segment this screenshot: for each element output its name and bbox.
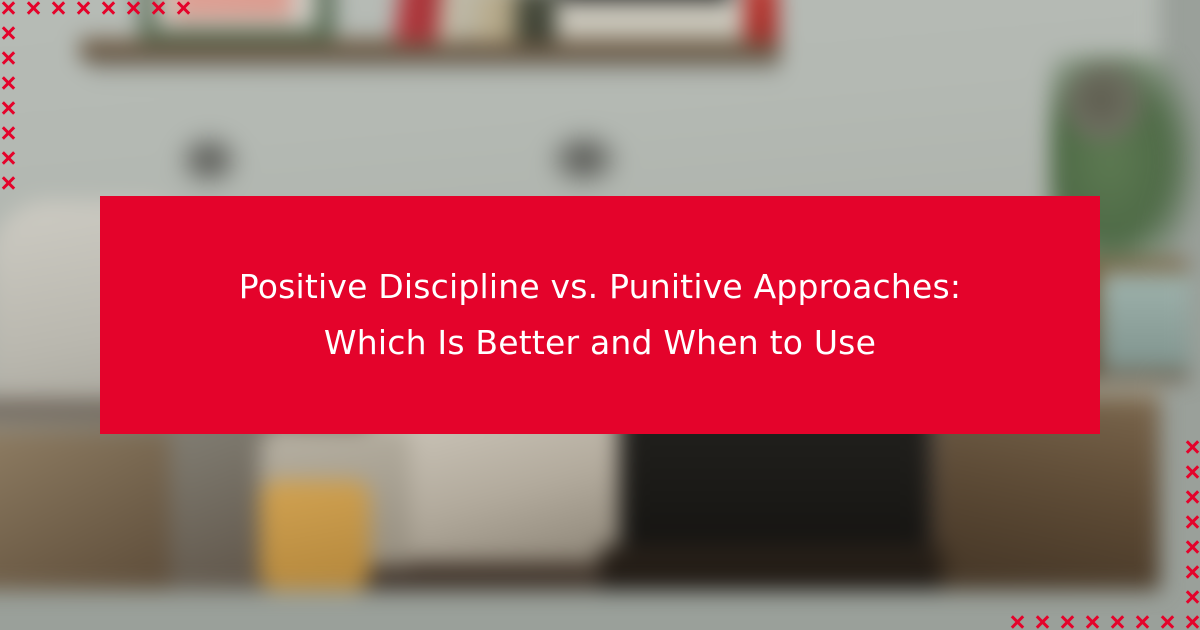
wooden-stool [260,480,370,590]
shelf-light-box [556,2,746,40]
shelf-dark-pot [516,0,558,42]
dark-blob-center [544,128,624,190]
social-share-card: Positive Discipline vs. Punitive Approac… [0,0,1200,630]
page-title: Positive Discipline vs. Punitive Approac… [169,259,1031,371]
house-plant-top [1065,64,1145,144]
picture-frame-art [172,0,292,18]
warm-light-left [0,430,170,590]
shelf-books-cream [437,0,468,42]
dark-blob-left [174,130,244,190]
shelf-red-object [744,0,778,42]
plant-planter-inner [1100,272,1190,372]
title-banner: Positive Discipline vs. Punitive Approac… [100,196,1100,434]
dark-sofa-base [600,546,950,590]
shelf-shadow [90,60,780,76]
